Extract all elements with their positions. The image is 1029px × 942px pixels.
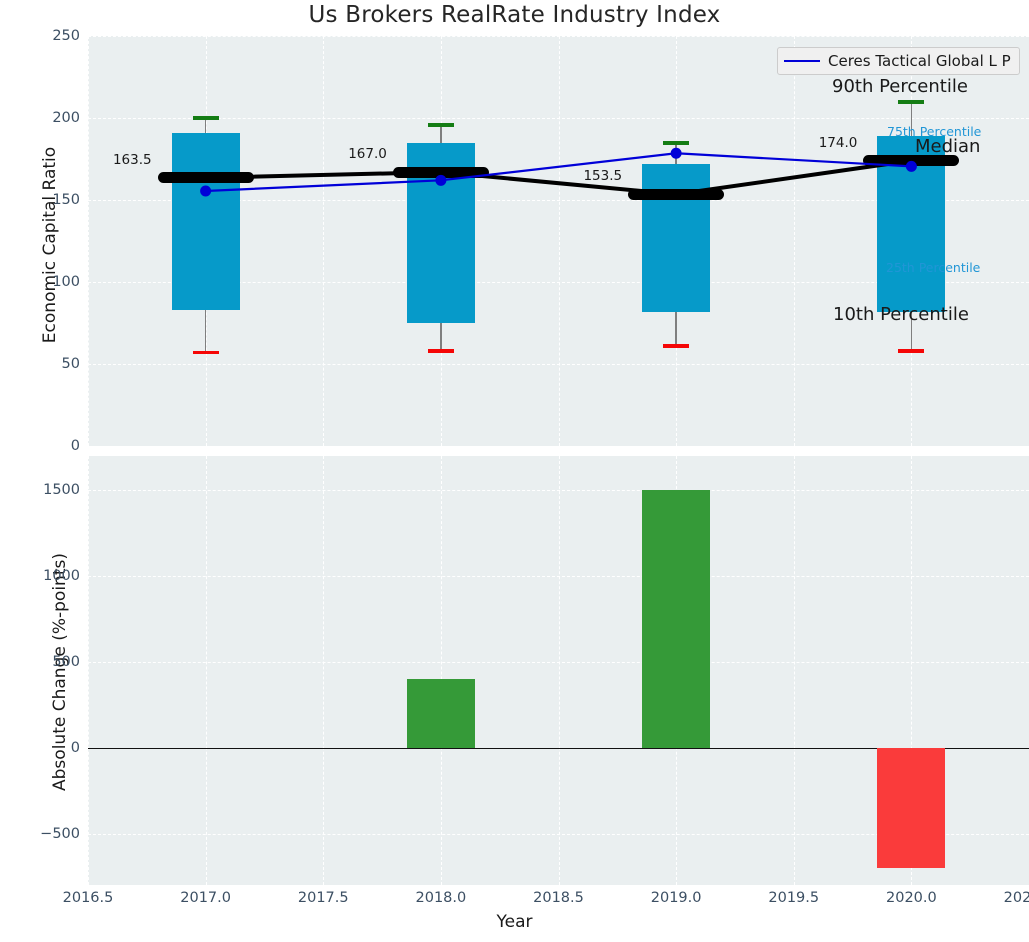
- annotation-median: Median: [915, 136, 980, 157]
- change-bar[interactable]: [642, 490, 710, 747]
- x-axis-tick-label: 2020.5: [1004, 890, 1029, 906]
- whisker-cap-low: [428, 349, 454, 353]
- box-plot-box[interactable]: [642, 164, 710, 312]
- y-axis-tick-label: 500: [52, 654, 80, 670]
- gridline-horizontal: [88, 490, 1029, 491]
- median-value-label: 163.5: [113, 152, 152, 168]
- annotation-10th-percentile: 10th Percentile: [833, 304, 969, 325]
- gridline-vertical: [441, 456, 442, 885]
- y-axis-tick-label: 200: [52, 110, 80, 126]
- gridline-vertical: [323, 36, 324, 446]
- panel-economic-capital-ratio: [88, 36, 1029, 446]
- x-axis-label: Year: [0, 912, 1029, 932]
- chart-figure: Us Brokers RealRate Industry Index Econo…: [0, 0, 1029, 942]
- whisker-cap-high: [898, 100, 924, 104]
- legend-line-swatch: [784, 60, 820, 62]
- gridline-vertical: [794, 456, 795, 885]
- x-axis-tick-label: 2018.5: [533, 890, 584, 906]
- change-bar[interactable]: [407, 679, 475, 748]
- y-axis-label-bottom: Absolute Change (%-points): [50, 482, 70, 862]
- whisker-cap-low: [193, 351, 219, 355]
- gridline-horizontal: [88, 662, 1029, 663]
- median-bar: [628, 189, 724, 200]
- gridline-vertical: [88, 36, 89, 446]
- y-axis-tick-label: 0: [71, 740, 80, 756]
- whisker-cap-low: [898, 349, 924, 353]
- y-axis-tick-label: 1000: [43, 568, 80, 584]
- gridline-horizontal: [88, 364, 1029, 365]
- whisker-cap-low: [663, 344, 689, 348]
- y-axis-tick-label: 50: [62, 356, 80, 372]
- whisker-cap-high: [193, 116, 219, 120]
- y-axis-tick-label: 100: [52, 274, 80, 290]
- legend[interactable]: Ceres Tactical Global L P: [777, 47, 1020, 75]
- gridline-vertical: [206, 456, 207, 885]
- median-value-label: 174.0: [819, 135, 858, 151]
- annotation-25th-percentile: 25th Percentile: [886, 260, 980, 275]
- change-bar[interactable]: [877, 748, 945, 868]
- gridline-vertical: [88, 456, 89, 885]
- x-axis-tick-label: 2017.0: [180, 890, 231, 906]
- x-axis-tick-label: 2017.5: [298, 890, 349, 906]
- gridline-vertical: [323, 456, 324, 885]
- y-axis-tick-label: 0: [71, 438, 80, 454]
- legend-label-ceres: Ceres Tactical Global L P: [828, 52, 1011, 70]
- box-plot-box[interactable]: [172, 133, 240, 310]
- x-axis-tick-label: 2019.0: [651, 890, 702, 906]
- y-axis-tick-label: −500: [40, 826, 80, 842]
- whisker-cap-high: [663, 141, 689, 145]
- gridline-horizontal: [88, 36, 1029, 37]
- y-axis-tick-label: 1500: [43, 482, 80, 498]
- x-axis-tick-label: 2020.0: [886, 890, 937, 906]
- x-axis-tick-label: 2018.0: [416, 890, 467, 906]
- median-bar: [393, 167, 489, 178]
- gridline-horizontal: [88, 118, 1029, 119]
- median-bar: [158, 172, 254, 183]
- median-value-label: 167.0: [348, 146, 387, 162]
- x-axis-tick-label: 2016.5: [63, 890, 114, 906]
- gridline-vertical: [559, 456, 560, 885]
- y-axis-tick-label: 150: [52, 192, 80, 208]
- gridline-vertical: [559, 36, 560, 446]
- whisker-cap-high: [428, 123, 454, 127]
- y-axis-tick-label: 250: [52, 28, 80, 44]
- gridline-horizontal: [88, 576, 1029, 577]
- chart-title: Us Brokers RealRate Industry Index: [0, 2, 1029, 28]
- x-axis-tick-label: 2019.5: [768, 890, 819, 906]
- median-value-label: 153.5: [583, 168, 622, 184]
- y-axis-label-top: Economic Capital Ratio: [40, 75, 60, 415]
- gridline-vertical: [794, 36, 795, 446]
- panel-absolute-change: [88, 456, 1029, 885]
- annotation-90th-percentile: 90th Percentile: [832, 76, 968, 97]
